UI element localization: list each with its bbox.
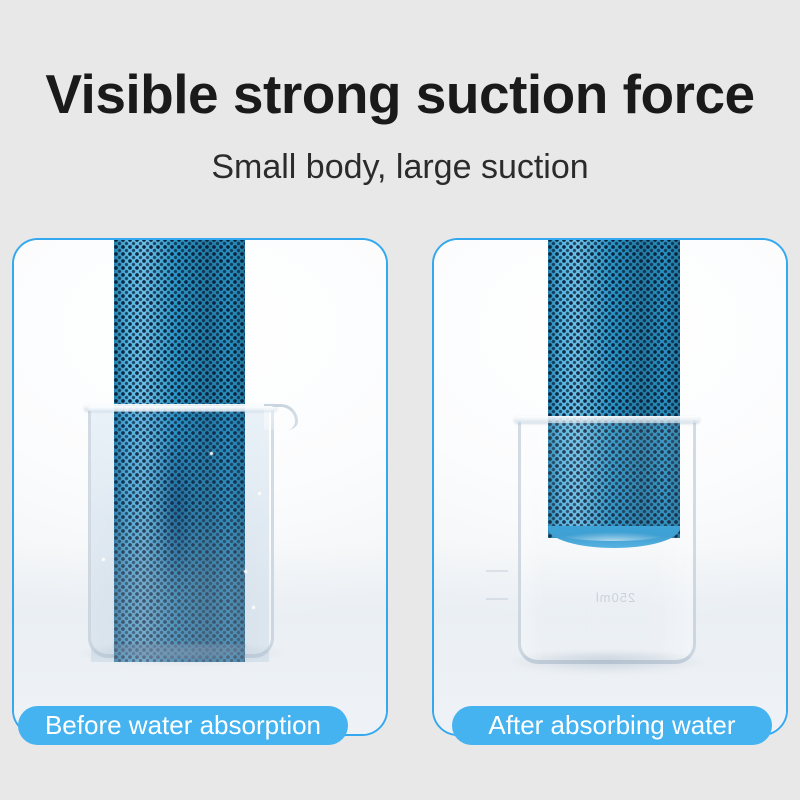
caption-before: Before water absorption: [18, 706, 348, 745]
beaker-base-shadow-right: [506, 652, 708, 674]
beaker-graduation-tick: [486, 598, 508, 600]
page-subtitle: Small body, large suction: [0, 148, 800, 187]
page-title: Visible strong suction force: [0, 62, 800, 126]
droplet: [252, 606, 255, 609]
beaker-base-shadow-left: [76, 644, 286, 666]
wet-streak: [154, 430, 198, 630]
water-surface-line: [88, 406, 274, 412]
droplet: [258, 492, 261, 495]
beaker-rim-right: [514, 416, 700, 423]
caption-after-label: After absorbing water: [488, 710, 735, 741]
droplet: [210, 452, 213, 455]
comparison-panel-after: 250ml: [432, 238, 788, 736]
mesh-cylinder-above-beaker: [548, 238, 680, 422]
caption-after: After absorbing water: [452, 706, 772, 745]
comparison-panel-before: [12, 238, 388, 736]
caption-before-label: Before water absorption: [45, 710, 321, 741]
droplet: [102, 558, 105, 561]
beaker-graduation-tick: [486, 570, 508, 572]
droplet: [244, 570, 247, 573]
beaker-graduation-label: 250ml: [530, 590, 700, 605]
mesh-cylinder-inside-beaker: [548, 422, 680, 538]
mesh-cylinder-above-water: [114, 238, 245, 410]
